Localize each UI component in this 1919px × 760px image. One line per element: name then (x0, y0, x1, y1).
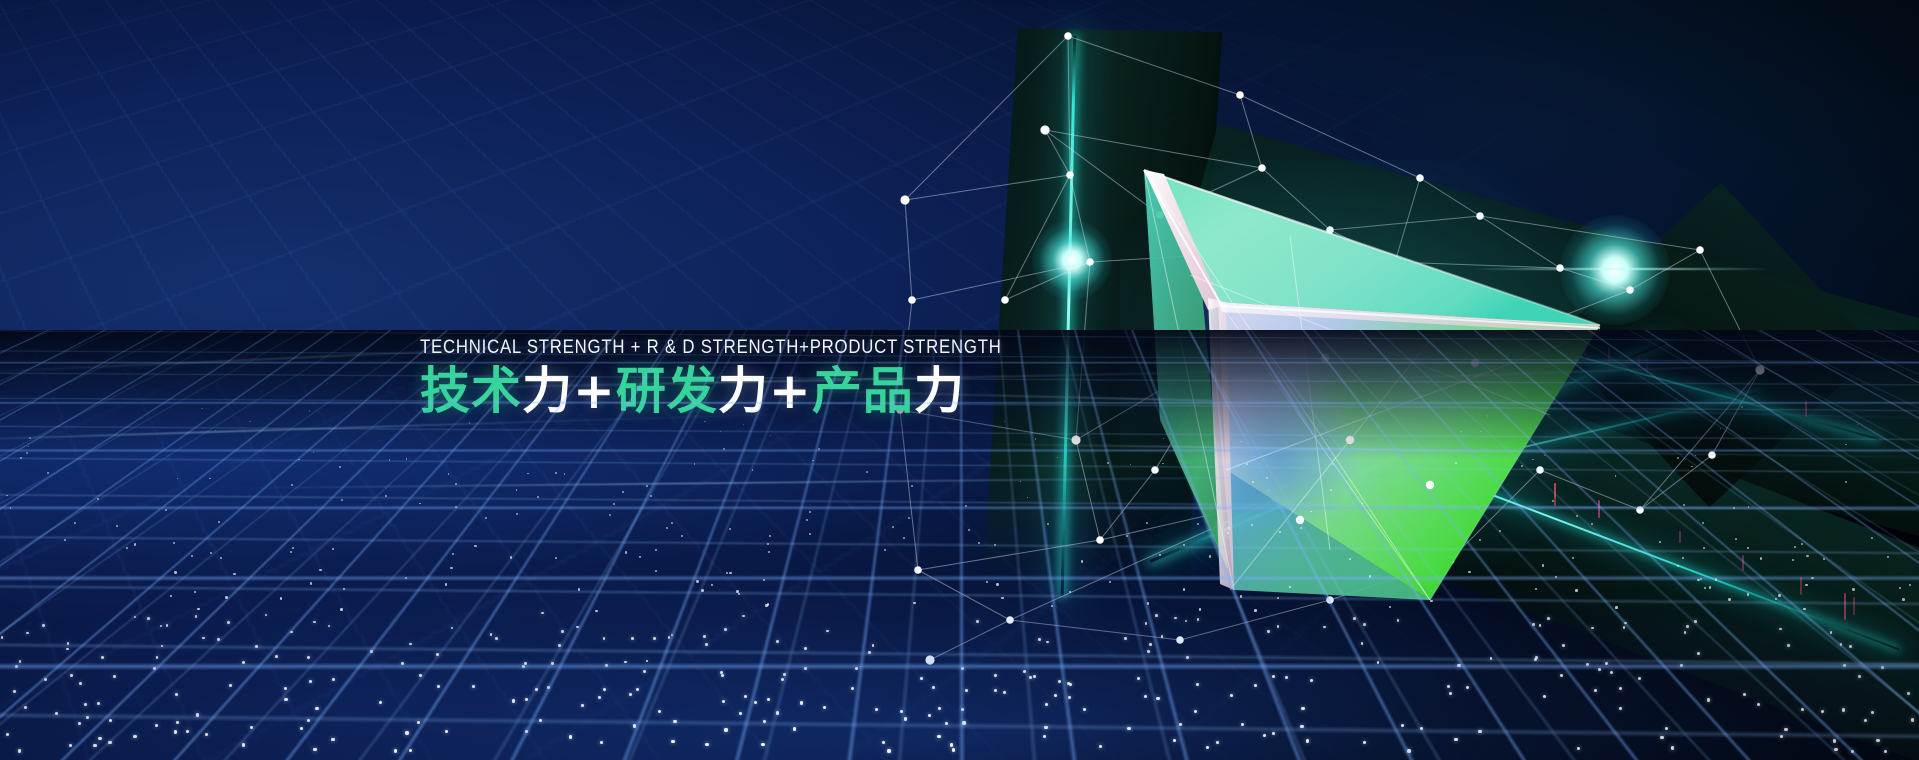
headline-segment-1: 力 (522, 362, 573, 420)
headline-segment-3: 研发 (616, 362, 718, 420)
headline-segment-7: 力 (914, 362, 965, 420)
headline-copy-block: TECHNICAL STRENGTH + R & D STRENGTH+PROD… (420, 336, 1020, 418)
headline-segment-2: + (573, 362, 616, 420)
headline-segment-5: + (769, 362, 812, 420)
headline-segment-6: 产品 (812, 362, 914, 420)
eyebrow-text: TECHNICAL STRENGTH + R & D STRENGTH+PROD… (420, 336, 936, 359)
headline-segment-0: 技术 (420, 362, 522, 420)
banner-stage: TECHNICAL STRENGTH + R & D STRENGTH+PROD… (0, 0, 1919, 760)
page-title: 技术力+研发力+产品力 (420, 364, 1020, 418)
headline-segment-4: 力 (718, 362, 769, 420)
